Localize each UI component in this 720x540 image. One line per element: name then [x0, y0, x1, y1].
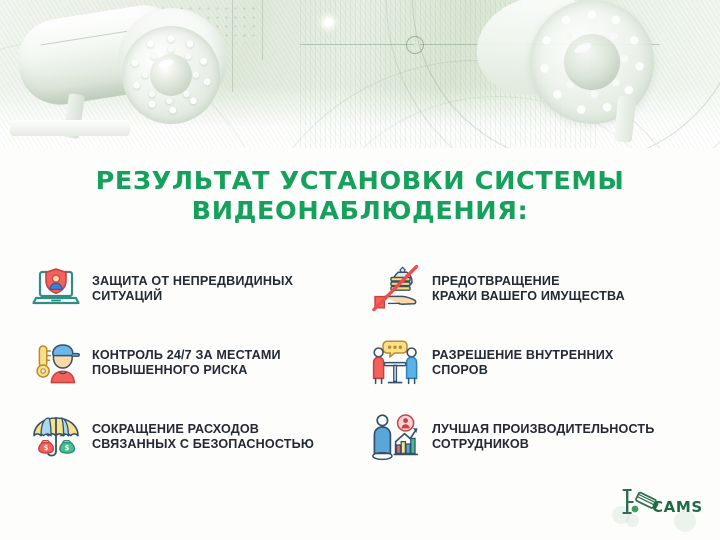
benefits-grid: ЗАЩИТА ОТ НЕПРЕДВИДИНЫХ СИТУАЦИЙ $: [0, 252, 720, 474]
tech-node-circle: [406, 36, 424, 54]
key-worker-icon: [28, 335, 84, 391]
camera-mount-arm: [614, 95, 637, 143]
benefit-label: СОКРАЩЕНИЕ РАСХОДОВ СВЯЗАННЫХ С БЕЗОПАСН…: [92, 422, 314, 452]
benefit-label: ПРЕДОТВРАЩЕНИЕ КРАЖИ ВАШЕГО ИМУЩЕСТВА: [432, 274, 625, 304]
right-cctv-camera: [470, 0, 700, 142]
svg-text:$: $: [44, 444, 49, 452]
brand-logo[interactable]: CAMS: [612, 486, 708, 530]
benefit-item: ЛУЧШАЯ ПРОИЗВОДИТЕЛЬНОСТЬ СОТРУДНИКОВ: [358, 400, 720, 474]
benefit-label: ЗАЩИТА ОТ НЕПРЕДВИДИНЫХ СИТУАЦИЙ: [92, 274, 293, 304]
hero-banner: [0, 0, 720, 148]
tech-node-line: [300, 44, 414, 45]
meeting-dispute-icon: [368, 335, 424, 391]
benefit-item: $ $ СОКРАЩЕНИЕ РАСХОДОВ СВЯЗАННЫХ С БЕЗО…: [0, 400, 358, 474]
left-cctv-camera: [10, 2, 260, 142]
page-title-line-1: РЕЗУЛЬТАТ УСТАНОВКИ СИСТЕМЫ: [0, 166, 720, 196]
tech-node-glow: [324, 18, 333, 27]
benefit-item: $ ПРЕДОТВРАЩЕНИЕ КРАЖИ ВАШЕГО ИМУЩЕСТВА: [358, 252, 720, 326]
benefit-label: ЛУЧШАЯ ПРОИЗВОДИТЕЛЬНОСТЬ СОТРУДНИКОВ: [432, 422, 654, 452]
benefits-row: ЗАЩИТА ОТ НЕПРЕДВИДИНЫХ СИТУАЦИЙ $: [0, 252, 720, 326]
camera-lens-glass: [564, 34, 620, 90]
laptop-shield-person-icon: [28, 261, 84, 317]
benefit-label: РАЗРЕШЕНИЕ ВНУТРЕННИХ СПОРОВ: [432, 348, 614, 378]
promo-poster: РЕЗУЛЬТАТ УСТАНОВКИ СИСТЕМЫ ВИДЕОНАБЛЮДЕ…: [0, 0, 720, 540]
benefits-row: КОНТРОЛЬ 24/7 ЗА МЕСТАМИ ПОВЫШЕННОГО РИС…: [0, 326, 720, 400]
no-theft-hand-money-icon: $: [368, 261, 424, 317]
benefit-label: КОНТРОЛЬ 24/7 ЗА МЕСТАМИ ПОВЫШЕННОГО РИС…: [92, 348, 281, 378]
umbrella-money-bags-icon: $ $: [28, 409, 84, 465]
tech-vertical-line: [262, 0, 263, 60]
svg-text:$: $: [65, 444, 70, 452]
employee-performance-chart-icon: [368, 409, 424, 465]
benefit-item: КОНТРОЛЬ 24/7 ЗА МЕСТАМИ ПОВЫШЕННОГО РИС…: [0, 326, 358, 400]
logo-text: CAMS: [652, 498, 703, 516]
page-title: РЕЗУЛЬТАТ УСТАНОВКИ СИСТЕМЫ ВИДЕОНАБЛЮДЕ…: [0, 166, 720, 226]
camera-mount-base: [10, 120, 130, 136]
benefits-row: $ $ СОКРАЩЕНИЕ РАСХОДОВ СВЯЗАННЫХ С БЕЗО…: [0, 400, 720, 474]
benefit-item: ЗАЩИТА ОТ НЕПРЕДВИДИНЫХ СИТУАЦИЙ: [0, 252, 358, 326]
page-title-line-2: ВИДЕОНАБЛЮДЕНИЯ:: [0, 196, 720, 226]
benefit-item: РАЗРЕШЕНИЕ ВНУТРЕННИХ СПОРОВ: [358, 326, 720, 400]
